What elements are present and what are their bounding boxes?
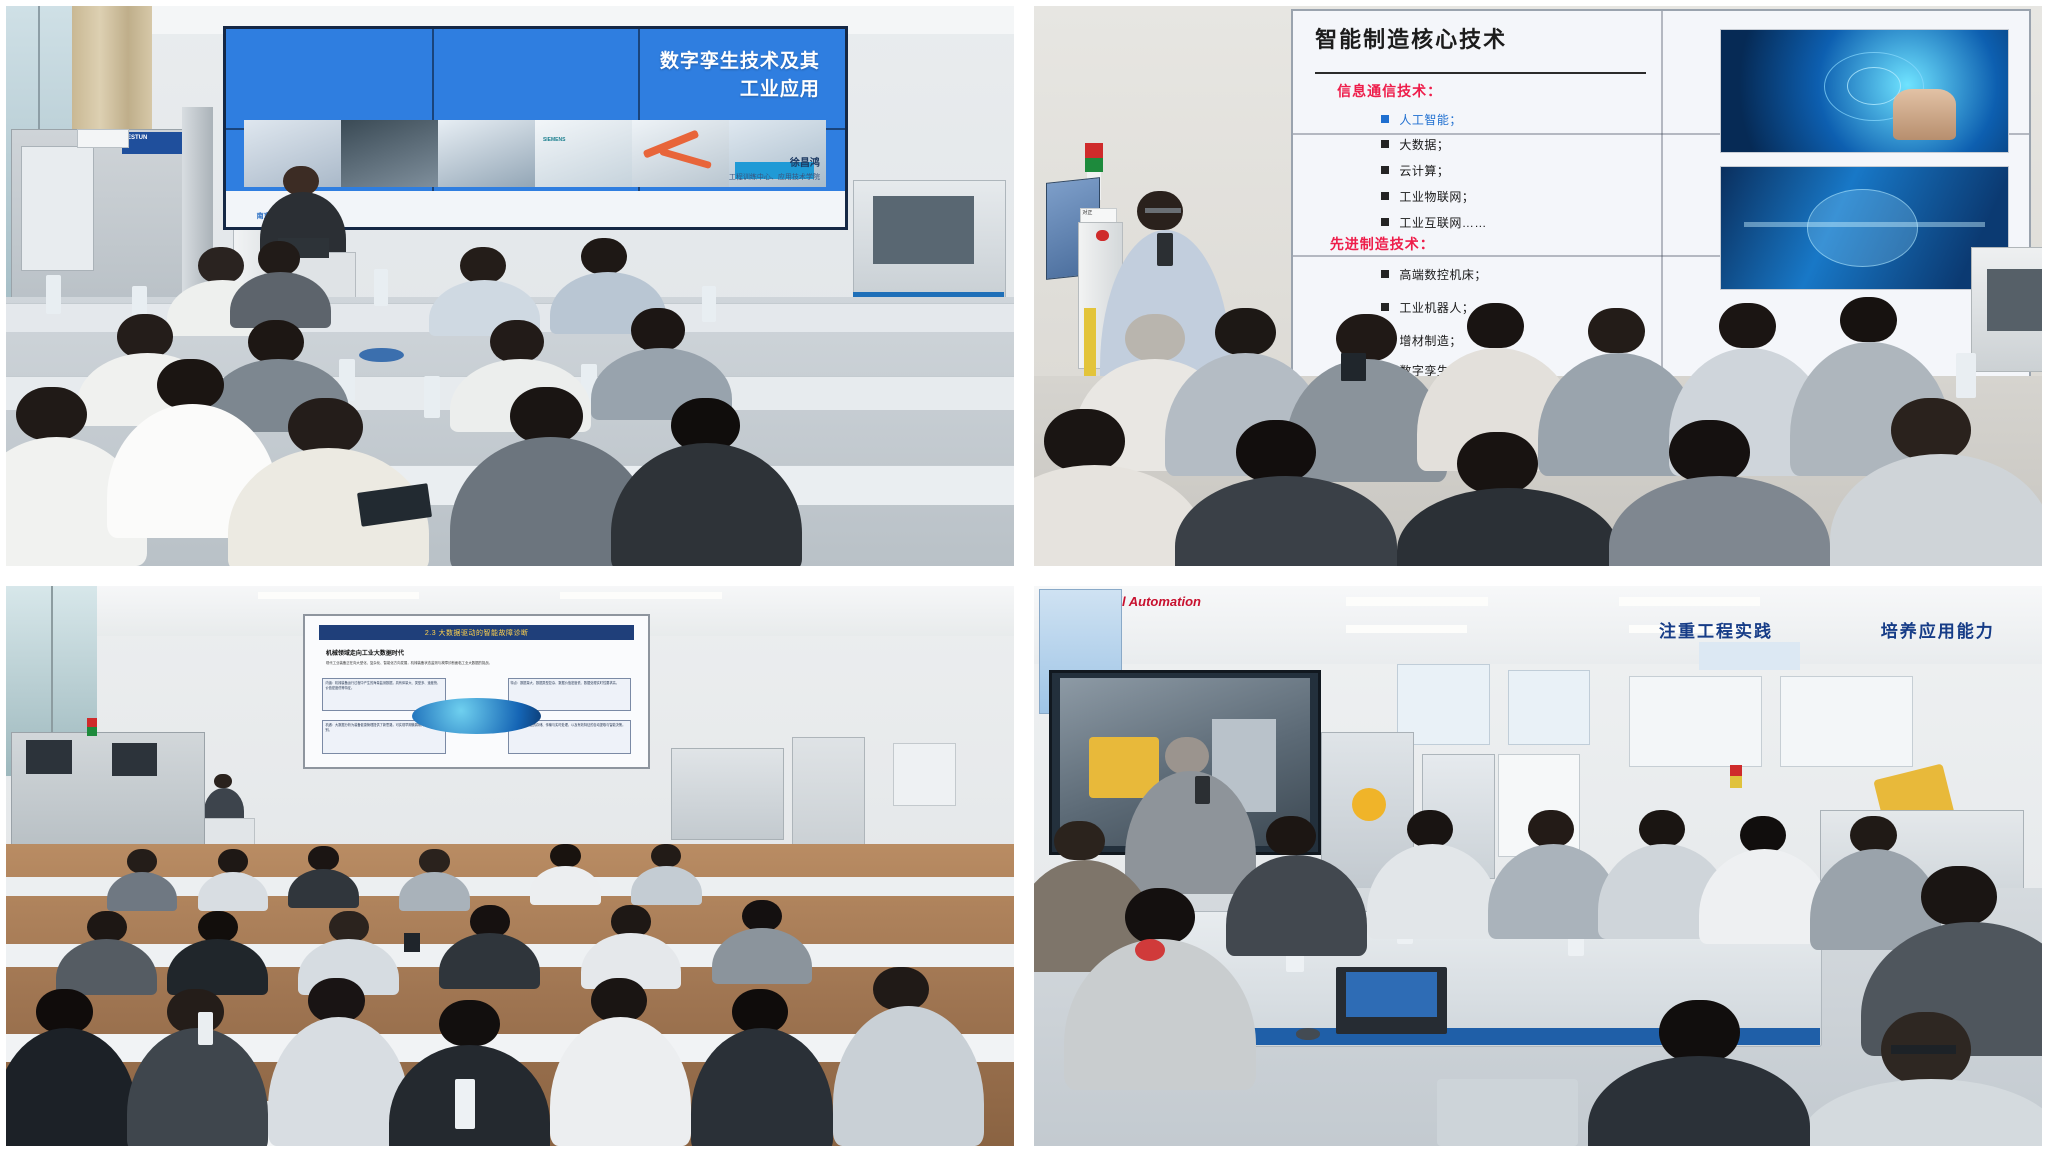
stack-light-green xyxy=(87,727,97,736)
bullet-square-icon xyxy=(1381,303,1389,311)
audience-head xyxy=(873,967,929,1011)
audience-head xyxy=(329,911,369,942)
video-wall-screen: 智能制造核心技术 信息通信技术： 人工智能； 大数据； 云计算； 工业物联网； … xyxy=(1291,9,2031,383)
machine-right-window xyxy=(1987,269,2042,331)
slide-bullet-cnc: 高端数控机床； xyxy=(1381,266,1487,283)
audience-head xyxy=(1639,810,1685,847)
stack-light-red xyxy=(1730,765,1742,776)
photo-top-right: 智能制造核心技术 信息通信技术： 人工智能； 大数据； 云计算； 工业物联网； … xyxy=(1034,6,2042,566)
strip-image-turbine xyxy=(438,120,535,187)
speaker-head xyxy=(283,166,319,195)
bullet-square-icon xyxy=(1381,166,1389,174)
monitor-robot-graphic xyxy=(1089,737,1158,798)
bullet-square-icon xyxy=(1381,140,1389,148)
audience-head xyxy=(1669,420,1750,482)
audience-head xyxy=(1044,409,1125,471)
audience-head xyxy=(1850,816,1896,853)
slide-bullet-ai: 人工智能； xyxy=(1381,111,1462,128)
audience-head xyxy=(1457,432,1538,494)
microphone xyxy=(1157,233,1173,267)
audience-head xyxy=(308,846,338,870)
slide-bullet-robot: 工业机器人； xyxy=(1381,299,1474,316)
stack-light-red xyxy=(1085,143,1102,158)
slide-section2-heading: 先进制造技术： xyxy=(1330,234,1435,254)
photo-collage: ESTUN SIEMENS xyxy=(0,0,2048,1152)
audience-head xyxy=(1467,303,1523,348)
audience-head xyxy=(1236,420,1317,482)
equipment-monitor xyxy=(112,743,157,777)
microphone xyxy=(1195,776,1210,804)
audience-head xyxy=(1407,810,1453,847)
ceiling-light xyxy=(560,592,721,600)
wall-banner-left: 注重工程实践 xyxy=(1659,617,1773,642)
audience-head xyxy=(308,978,364,1022)
audience-head xyxy=(611,905,651,936)
stack-light-red xyxy=(87,718,97,727)
audience-head xyxy=(258,241,300,275)
slide-presenter: 徐昌鸿 工程训练中心、应用技术学院 xyxy=(535,154,820,182)
presenter-name: 徐昌鸿 xyxy=(535,154,820,169)
photo-bottom-left: 2.3 大数据驱动的智能故障诊断 机械领域走向工业大数据时代 现代工业装备正在向… xyxy=(6,586,1014,1146)
smartphone xyxy=(404,933,420,952)
wall-hex-graphic xyxy=(1699,642,1800,670)
equipment-brand-text: ESTUN xyxy=(127,135,147,141)
slide-title: 智能制造核心技术 xyxy=(1315,22,1507,54)
ceiling-light xyxy=(1346,597,1487,606)
stack-light-green xyxy=(1085,158,1102,173)
slide-bullet-bigdata: 大数据； xyxy=(1381,136,1449,153)
equipment-rack-right xyxy=(671,748,784,840)
display-case xyxy=(1780,676,1913,768)
audience-head xyxy=(591,978,647,1022)
audience-head xyxy=(198,247,244,283)
audience-head xyxy=(1054,821,1104,860)
audience-head xyxy=(1528,810,1574,847)
collage-panel-top-left: ESTUN SIEMENS xyxy=(0,0,1024,576)
audience-head xyxy=(157,359,224,409)
slide-bullet-iiot: 工业物联网； xyxy=(1381,188,1474,205)
stool-seat xyxy=(359,348,404,363)
audience-head xyxy=(1266,816,1316,855)
water-bottle xyxy=(46,275,61,314)
speaker-head xyxy=(1165,737,1209,774)
water-bottle xyxy=(702,286,716,322)
emergency-stop-button xyxy=(1096,230,1108,241)
machine-right-window xyxy=(873,196,974,263)
audience-head xyxy=(742,900,782,931)
audience-head xyxy=(1840,297,1896,342)
wall-poster xyxy=(1508,670,1591,745)
audience-head xyxy=(1125,314,1185,361)
audience-head xyxy=(581,238,627,274)
audience-head xyxy=(732,989,788,1033)
audience-head xyxy=(87,911,127,942)
bullet-square-icon xyxy=(1381,115,1389,123)
lecturer-head xyxy=(214,774,232,789)
audience-head xyxy=(1588,308,1644,353)
audience-head xyxy=(127,849,157,873)
audience-head xyxy=(550,844,580,868)
audience-head xyxy=(218,849,248,873)
audience-head xyxy=(470,905,510,936)
slide-image-ai-hand xyxy=(1720,29,2009,153)
audience-head xyxy=(1740,816,1786,853)
audience-head xyxy=(1659,1000,1740,1062)
equipment-panel xyxy=(21,146,94,271)
slide-quadrant-grid: 内涵：机械装备运行过程中产生的海量监测数据，具有体量大、类型多、速度快、价值密度… xyxy=(322,678,630,754)
projection-screen: 2.3 大数据驱动的智能故障诊断 机械领域走向工业大数据时代 现代工业装备正在向… xyxy=(303,614,650,769)
slide-bullet-cloud: 云计算； xyxy=(1381,162,1449,179)
audience-head xyxy=(651,844,681,868)
stack-light-yellow xyxy=(1730,776,1742,787)
ceiling-light xyxy=(1619,597,1760,606)
slide-title: 数字孪生技术及其 工业应用 xyxy=(535,48,820,103)
computer-mouse[interactable] xyxy=(1296,1028,1320,1039)
speaker-glasses xyxy=(1145,208,1181,213)
slide-title-rule xyxy=(1315,72,1646,74)
slide-title-line1: 数字孪生技术及其 xyxy=(535,48,820,76)
slide-bullet-industrial-internet: 工业互联网…… xyxy=(1381,214,1487,231)
water-bottle xyxy=(374,269,388,305)
chair xyxy=(1437,1079,1578,1146)
audience-head xyxy=(419,849,449,873)
audience-head xyxy=(1719,303,1775,348)
hair-accessory xyxy=(1135,939,1165,961)
machine-placard-text: 对正 xyxy=(1082,209,1092,216)
bullet-square-icon xyxy=(1381,192,1389,200)
slide-globe-graphic xyxy=(412,698,542,734)
water-bottle xyxy=(1956,353,1976,398)
display-case xyxy=(1629,676,1762,768)
machine-yellow-guard xyxy=(1084,308,1096,375)
collage-panel-bottom-left: 2.3 大数据驱动的智能故障诊断 机械领域走向工业大数据时代 现代工业装备正在向… xyxy=(0,576,1024,1152)
siemens-logo: SIEMENS xyxy=(543,137,566,143)
collage-panel-bottom-right: Rockwell Automation 校企合作 注重工程实践 培养应用能力 xyxy=(1024,576,2048,1152)
slide-subtitle: 机械领域走向工业大数据时代 xyxy=(326,648,404,657)
ceiling-light xyxy=(1346,625,1467,633)
audience-head xyxy=(1891,398,1972,460)
audience-head xyxy=(510,387,583,443)
ceiling-light xyxy=(258,592,419,600)
collage-panel-top-right: 智能制造核心技术 信息通信技术： 人工智能； 大数据； 云计算； 工业物联网； … xyxy=(1024,0,2048,576)
audience-head xyxy=(198,911,238,942)
bullet-square-icon xyxy=(1381,270,1389,278)
audience-head xyxy=(16,387,87,440)
water-bottle xyxy=(424,376,440,418)
strip-image-cnc xyxy=(341,120,438,187)
safety-sign xyxy=(77,129,129,148)
audience-head xyxy=(248,320,304,364)
audience-head xyxy=(1125,888,1196,944)
bullet-square-icon xyxy=(1381,218,1389,226)
slide-image-turbine xyxy=(1720,166,2009,290)
audience-head xyxy=(1215,308,1275,355)
eyeglasses xyxy=(1891,1045,1957,1054)
audience-head xyxy=(117,314,173,358)
slide-section1-heading: 信息通信技术： xyxy=(1337,81,1442,101)
wall-poster xyxy=(893,743,955,807)
laptop-screen xyxy=(1346,972,1437,1017)
audience-head xyxy=(631,308,685,351)
smartphone xyxy=(1341,353,1365,381)
audience-head xyxy=(36,989,92,1033)
slide-title-line2: 工业应用 xyxy=(535,76,820,104)
audience-head xyxy=(439,1000,499,1046)
audience-head xyxy=(167,989,223,1033)
balloon-decoration xyxy=(1352,788,1386,822)
audience-head xyxy=(288,398,363,454)
audience-head xyxy=(1921,866,1997,925)
photo-bottom-right: Rockwell Automation 校企合作 注重工程实践 培养应用能力 xyxy=(1034,586,2042,1146)
water-bottle xyxy=(455,1079,475,1129)
presenter-affiliation: 工程训练中心、应用技术学院 xyxy=(535,172,820,182)
slide-banner: 2.3 大数据驱动的智能故障诊断 xyxy=(319,625,634,640)
equipment-monitor xyxy=(26,740,71,774)
photo-top-left: ESTUN SIEMENS xyxy=(6,6,1014,566)
slide-paragraph: 现代工业装备正在向大型化、复杂化、智能化方向发展，机械装备状态监测与故障诊断面临… xyxy=(326,661,628,666)
water-bottle xyxy=(198,1012,213,1046)
audience-head xyxy=(460,247,506,283)
wall-banner-right: 培养应用能力 xyxy=(1881,617,1995,642)
audience-head xyxy=(490,320,544,363)
